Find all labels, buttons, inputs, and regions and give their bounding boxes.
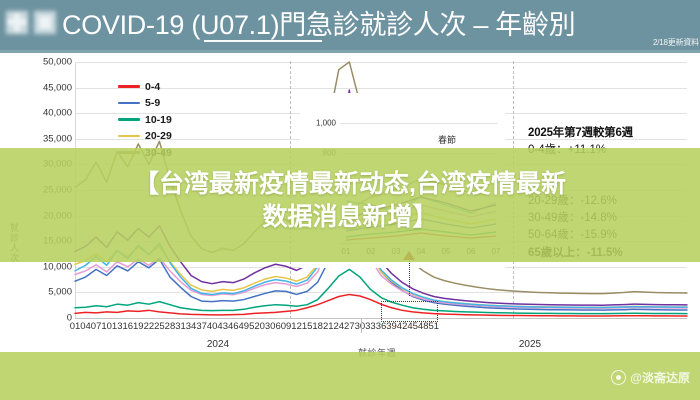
chart-header: COVID-19 (U07.1)門急診就診人次 – 年齡別 2/18更新資料: [0, 0, 700, 53]
legend-item-10-19[interactable]: 10-19: [118, 113, 172, 126]
x-tick: 51: [428, 321, 439, 332]
x-tick: 39: [386, 321, 397, 332]
x-tick: 12: [291, 321, 302, 332]
x-tick: 40: [207, 321, 218, 332]
overlay-band-bottom: [0, 352, 700, 400]
legend-label: 0-4: [145, 81, 160, 93]
x-tick: 13: [112, 321, 123, 332]
x-tick: 43: [217, 321, 228, 332]
legend-label: 20-29: [145, 130, 172, 142]
x-tick: 07: [91, 321, 102, 332]
watermark-handle: @淡斋达原: [630, 369, 690, 386]
year-divider: [361, 319, 362, 333]
x-tick: 09: [281, 321, 292, 332]
x-tick: 30: [355, 321, 366, 332]
legend-swatch-icon: [118, 118, 140, 121]
legend-item-20-29[interactable]: 20-29: [118, 130, 172, 143]
zoom-callout-stem: [409, 258, 410, 296]
page-title: COVID-19 (U07.1)門急診就診人次 – 年齡別: [62, 3, 575, 42]
headline-line-2: 数据消息新增】: [0, 201, 700, 234]
x-tick: 01: [70, 321, 81, 332]
zoom-callout-box: [381, 301, 438, 322]
x-tick: 31: [175, 321, 186, 332]
x-tick: 45: [407, 321, 418, 332]
x-tick: 22: [144, 321, 155, 332]
x-tick: 10: [101, 321, 112, 332]
x-tick: 33: [365, 321, 376, 332]
x-tick: 52: [249, 321, 260, 332]
legend-item-5-9[interactable]: 5-9: [118, 97, 172, 110]
x-tick: 03: [260, 321, 271, 332]
legend-item-0-4[interactable]: 0-4: [118, 80, 172, 93]
x-tick: 25: [154, 321, 165, 332]
headline-line-1: 【台湾最新疫情最新动态,台湾疫情最新: [0, 168, 700, 201]
x-tick: 48: [418, 321, 429, 332]
x-tick: 06: [270, 321, 281, 332]
cdc-logo-icon: [6, 9, 58, 36]
year-label: 2024: [207, 339, 229, 350]
legend-swatch-icon: [118, 102, 140, 105]
x-tick: 42: [397, 321, 408, 332]
x-tick: 18: [312, 321, 323, 332]
x-tick: 24: [333, 321, 344, 332]
x-tick: 37: [196, 321, 207, 332]
overlay-headline: 【台湾最新疫情最新动态,台湾疫情最新 数据消息新增】: [0, 168, 700, 234]
year-label: 2025: [519, 339, 541, 350]
update-note: 2/18更新資料: [653, 37, 699, 48]
x-tick: 49: [239, 321, 250, 332]
x-tick: 36: [376, 321, 387, 332]
x-tick: 21: [323, 321, 334, 332]
legend-label: 5-9: [145, 97, 160, 109]
x-tick: 04: [80, 321, 91, 332]
x-tick: 28: [165, 321, 176, 332]
weibo-watermark: @淡斋达原: [611, 369, 690, 386]
x-tick: 27: [344, 321, 355, 332]
x-tick: 19: [133, 321, 144, 332]
x-tick: 16: [122, 321, 133, 332]
legend-swatch-icon: [118, 135, 140, 138]
legend-swatch-icon: [118, 85, 140, 88]
stats-heading: 2025年第7週較第6週: [528, 124, 700, 140]
legend-label: 10-19: [145, 114, 172, 126]
weibo-icon: [611, 370, 626, 385]
x-tick: 46: [228, 321, 239, 332]
x-tick: 34: [186, 321, 197, 332]
x-tick: 15: [302, 321, 313, 332]
title-underline: [204, 40, 322, 42]
screenshot-root: COVID-19 (U07.1)門急診就診人次 – 年齡別 2/18更新資料 就…: [0, 0, 700, 400]
